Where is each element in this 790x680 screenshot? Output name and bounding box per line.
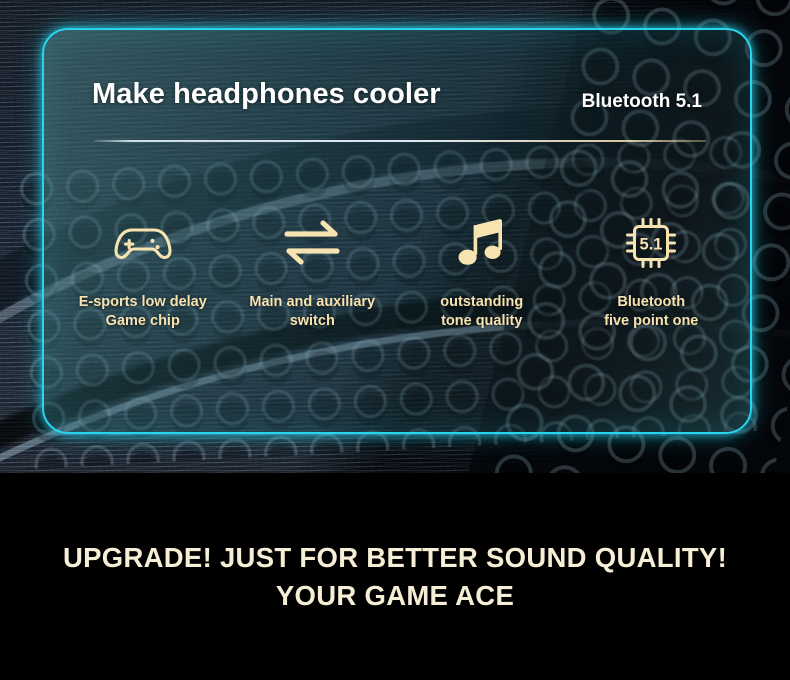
card-header: Make headphones cooler Bluetooth 5.1 <box>92 78 720 124</box>
bluetooth-chip-icon: 5.1 <box>623 215 679 271</box>
bottom-tagline-banner: UPGRADE! JUST FOR BETTER SOUND QUALITY! … <box>0 473 790 680</box>
glass-feature-card: Make headphones cooler Bluetooth 5.1 <box>42 28 752 434</box>
feature-label-line2: switch <box>249 312 375 331</box>
feature-list: E-sports low delay Game chip <box>58 215 736 330</box>
tagline-line-1: UPGRADE! JUST FOR BETTER SOUND QUALITY! <box>63 539 727 576</box>
header-divider <box>94 140 706 142</box>
feature-label-line1: E-sports low delay <box>79 293 207 312</box>
feature-label-line2: tone quality <box>440 312 523 331</box>
product-feature-poster: Make headphones cooler Bluetooth 5.1 <box>0 0 790 680</box>
feature-label-line2: five point one <box>604 312 698 331</box>
chip-version-text: 5.1 <box>640 235 663 253</box>
feature-item-tone-quality: outstanding tone quality <box>397 215 567 330</box>
feature-label: Main and auxiliary switch <box>249 293 375 330</box>
feature-item-bluetooth-version: 5.1 Bluetooth five point one <box>567 215 737 330</box>
feature-label-line1: Bluetooth <box>604 293 698 312</box>
card-title: Make headphones cooler <box>92 78 441 111</box>
feature-label: outstanding tone quality <box>440 293 523 330</box>
hero-background: Make headphones cooler Bluetooth 5.1 <box>0 0 790 473</box>
feature-label-line1: Main and auxiliary <box>249 293 375 312</box>
feature-label: Bluetooth five point one <box>604 293 698 330</box>
feature-item-main-aux-switch: Main and auxiliary switch <box>228 215 398 330</box>
swap-arrows-icon <box>281 215 343 271</box>
tagline-line-2: YOUR GAME ACE <box>276 577 514 614</box>
gamepad-icon <box>112 215 174 271</box>
music-note-icon <box>458 215 506 271</box>
feature-item-game-chip: E-sports low delay Game chip <box>58 215 228 330</box>
feature-label-line1: outstanding <box>440 293 523 312</box>
feature-label-line2: Game chip <box>79 312 207 331</box>
bluetooth-version-badge: Bluetooth 5.1 <box>582 91 702 113</box>
feature-label: E-sports low delay Game chip <box>79 293 207 330</box>
